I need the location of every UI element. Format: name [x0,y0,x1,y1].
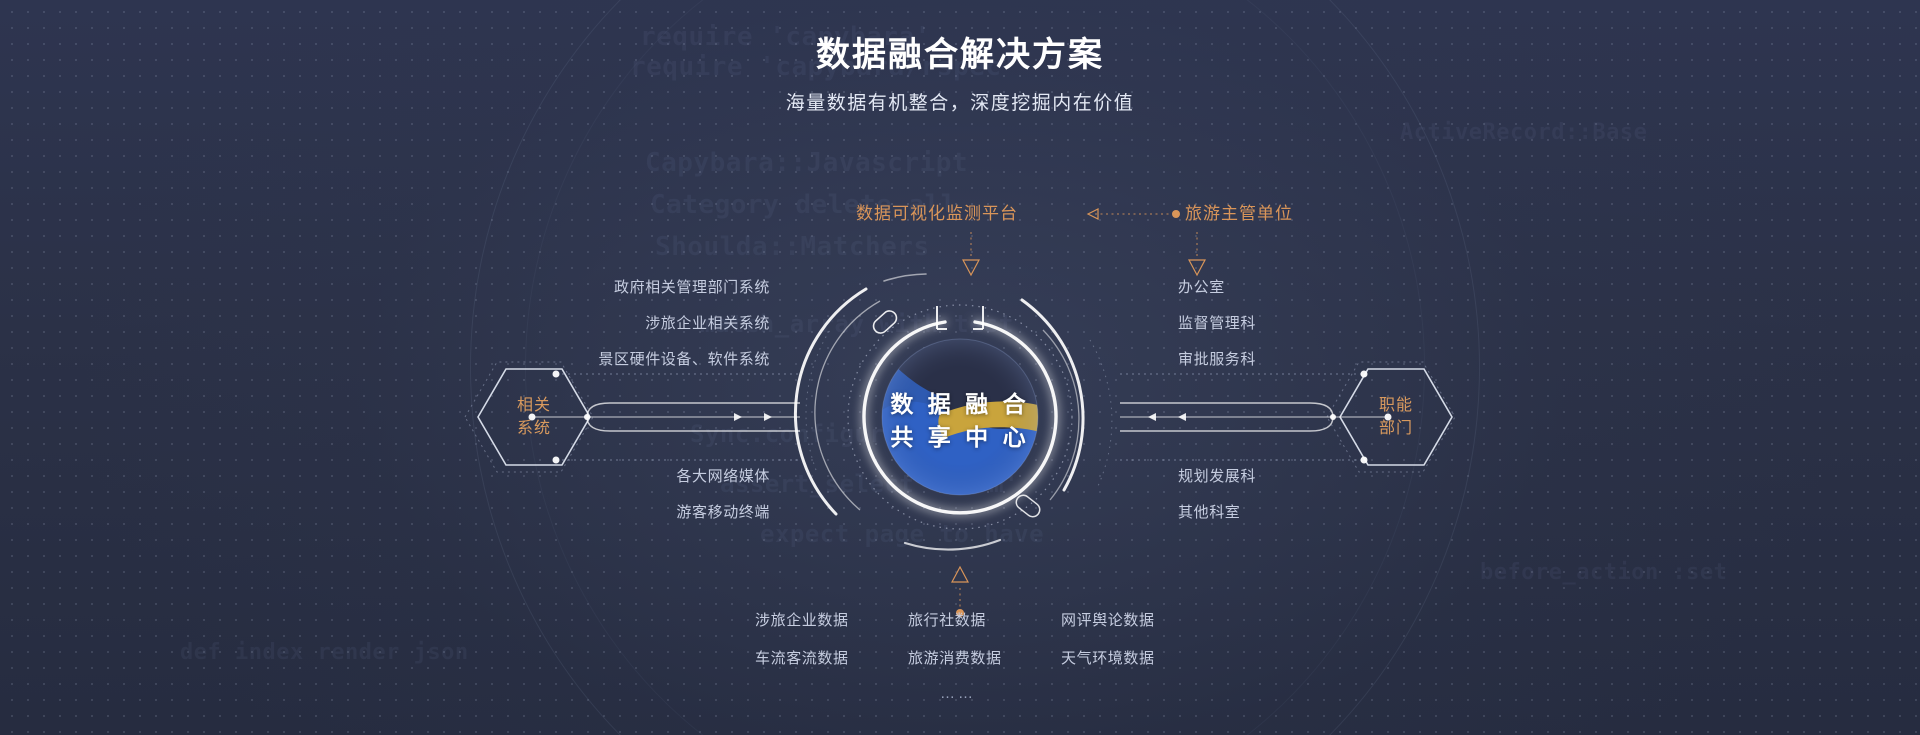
label-bottom-col2-row2: 旅游消费数据 [908,651,1002,666]
bottom-triangle-marker [952,567,968,582]
infographic-canvas: require 'capybara' require 'capybara/rsp… [0,0,1920,735]
ring-arc-outer-topleft [884,274,926,281]
center-label-line2: 共 享 中 心 [850,421,1070,454]
label-bottom-col1-row2: 车流客流数据 [755,651,849,666]
label-left-source-2: 涉旅企业相关系统 [323,316,770,331]
core-blue-bottom [880,452,1042,500]
code-line: before_action :set [1480,560,1727,585]
label-left-source-1: 政府相关管理部门系统 [323,280,770,295]
ring-capsule-node [871,308,900,336]
label-left-source-5: 游客移动终端 [323,505,770,520]
hexagon-right-line1: 职能 [1341,394,1451,417]
page-title: 数据融合解决方案 [0,32,1920,78]
label-left-source-4: 各大网络媒体 [323,469,770,484]
bottom-orange-connector [952,567,968,617]
header-block: 数据融合解决方案 海量数据有机整合，深度挖掘内在价值 [0,32,1920,115]
code-line: ActiveRecord::Base [1400,120,1647,145]
page-subtitle: 海量数据有机整合，深度挖掘内在价值 [0,88,1920,115]
hexagon-label-right[interactable]: 职能 部门 [1341,394,1451,440]
label-bottom-col3-row1: 网评舆论数据 [1061,613,1155,628]
label-right-dept-1: 办公室 [1178,280,1225,295]
label-right-dept-3: 审批服务科 [1178,352,1256,367]
center-label: 数 据 融 合 共 享 中 心 [850,388,1070,454]
code-line: expect page to have [760,520,1044,548]
code-line: Capybara::Javascript [645,148,968,178]
ring-arc-faint-left [806,330,830,470]
left-triangle-marker [1088,209,1098,219]
label-bottom-col3-row2: 天气环境数据 [1061,651,1155,666]
ring-arc-faint-right [1090,340,1112,486]
hexagon-right-line2: 部门 [1341,417,1451,440]
platform-triangle-marker [963,260,979,275]
label-bottom-col1-row1: 涉旅企业数据 [755,613,849,628]
tag-visualization-platform[interactable]: 数据可视化监测平台 [856,205,1018,222]
ring-arc-outer-bottom [905,540,1000,550]
label-bottom-ellipsis: …… [940,685,976,702]
label-bottom-col2-row1: 旅行社数据 [908,613,986,628]
tag-tourism-authority[interactable]: 旅游主管单位 [1185,205,1293,222]
hexagon-left-line1: 相关 [479,394,589,417]
authority-triangle-marker [1189,260,1205,275]
center-label-line1: 数 据 融 合 [850,388,1070,421]
label-right-dept-4: 规划发展科 [1178,469,1256,484]
code-line: def index render json [180,640,469,665]
hexagon-left-line2: 系统 [479,417,589,440]
hexagon-label-left[interactable]: 相关 系统 [479,394,589,440]
label-left-source-3: 景区硬件设备、软件系统 [323,352,770,367]
code-line: Shoulda::Matchers [655,232,930,262]
ring-capsule-node-2 [1013,492,1042,519]
label-right-dept-5: 其他科室 [1178,505,1240,520]
label-right-dept-2: 监督管理科 [1178,316,1256,331]
